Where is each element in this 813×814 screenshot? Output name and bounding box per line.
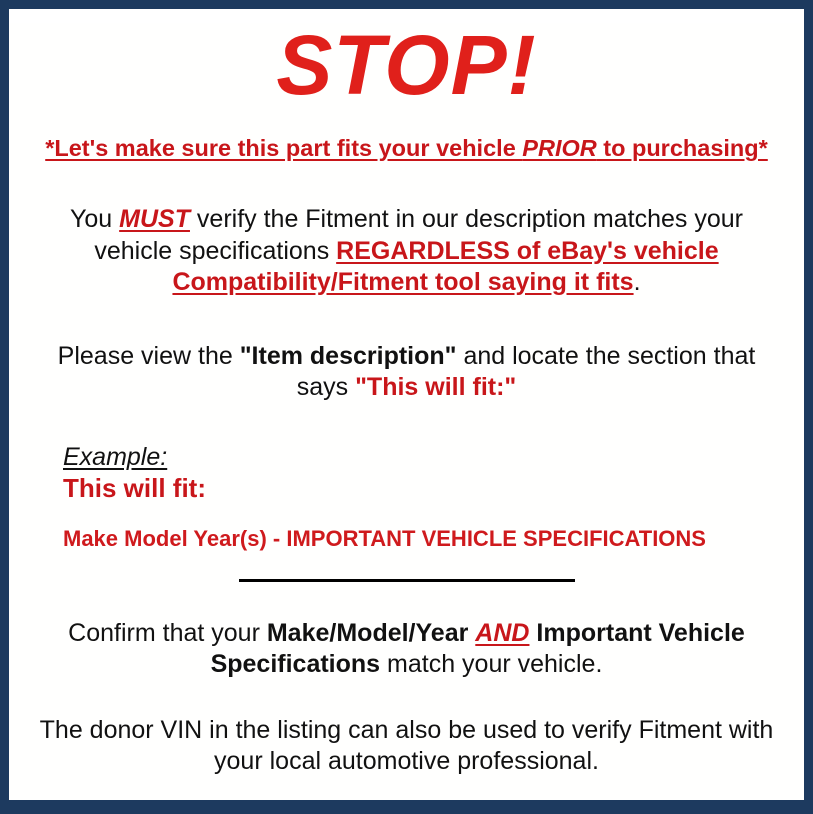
must-emphasis: MUST [119,205,190,233]
item-description-label: "Item description" [240,342,457,370]
please-view-paragraph: Please view the "Item description" and l… [15,341,798,404]
must-paragraph-end: . [634,268,641,296]
please-lead: Please view the [58,342,240,370]
example-this-will-fit: This will fit: [63,473,798,504]
divider-wrapper [15,579,798,582]
must-verify-paragraph: You MUST verify the Fitment in our descr… [15,204,798,299]
tagline-lead: *Let's make sure this part fits your veh… [45,135,522,161]
must-paragraph-lead: You [70,205,119,233]
this-will-fit-quote: "This will fit:" [355,373,516,401]
example-spec-line: Make Model Year(s) - IMPORTANT VEHICLE S… [63,526,798,552]
make-model-year-emphasis: Make/Model/Year [267,619,468,647]
tagline-tail: to purchasing* [597,135,768,161]
section-divider [239,579,575,582]
notice-card-inner: STOP! *Let's make sure this part fits yo… [9,23,804,814]
tagline-emphasis: PRIOR [522,135,596,161]
tagline: *Let's make sure this part fits your veh… [15,135,798,162]
fitment-notice-card: STOP! *Let's make sure this part fits yo… [0,0,813,814]
stop-headline: STOP! [15,23,798,107]
confirm-lead: Confirm that your [68,619,267,647]
example-block: Example: This will fit: Make Model Year(… [15,444,798,553]
thank-you-line: Thank you for confirming Fitment! [15,808,798,814]
example-label: Example: [63,444,798,472]
donor-vin-paragraph: The donor VIN in the listing can also be… [15,715,798,778]
confirm-tail: match your vehicle. [380,650,602,678]
confirm-paragraph: Confirm that your Make/Model/Year AND Im… [15,618,798,681]
and-emphasis: AND [475,619,529,647]
